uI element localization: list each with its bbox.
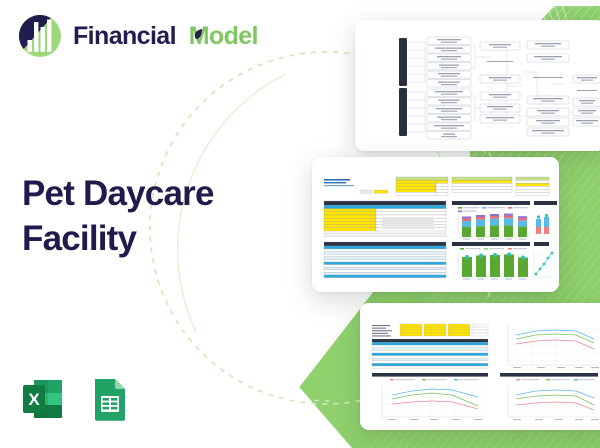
svg-text:X: X xyxy=(28,390,40,409)
google-sheets-file-icon[interactable] xyxy=(87,376,133,422)
brand-lockup: Financial Model xyxy=(18,14,258,58)
dashboard-screenshot[interactable] xyxy=(312,157,559,292)
brand-name: Financial Model xyxy=(73,24,258,49)
circle-chart-logo-icon xyxy=(18,14,62,58)
brand-name-primary: Financial xyxy=(73,22,176,50)
forecast-screenshot[interactable] xyxy=(360,303,600,430)
dupont-analysis-screenshot[interactable] xyxy=(355,20,600,151)
dashboard-thumbnail xyxy=(312,157,559,292)
brand-name-secondary: Model xyxy=(182,22,258,50)
leaf-icon xyxy=(194,29,203,40)
promo-banner: Financial Model Pet Daycare Facility X xyxy=(0,0,600,448)
page-title-line1: Pet Daycare xyxy=(22,172,214,217)
forecast-thumbnail xyxy=(360,303,600,430)
excel-file-icon[interactable]: X xyxy=(20,376,66,422)
page-title: Pet Daycare Facility xyxy=(22,172,214,262)
file-format-icons: X xyxy=(20,376,133,422)
dupont-diagram xyxy=(355,20,600,151)
page-title-line2: Facility xyxy=(22,217,214,262)
